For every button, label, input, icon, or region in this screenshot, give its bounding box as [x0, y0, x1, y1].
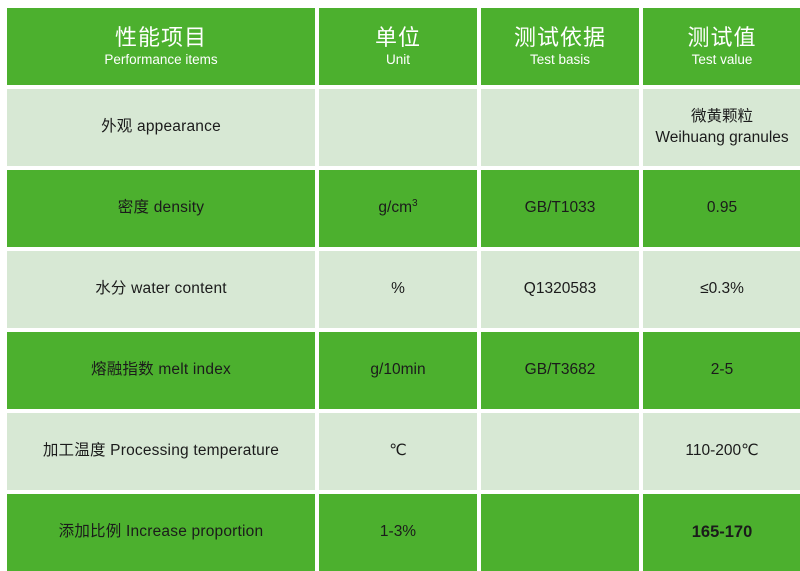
row-item-cell: 添加比例 Increase proportion	[7, 494, 315, 571]
column-header-cn: 测试值	[687, 25, 756, 50]
row-unit-cell: %	[319, 251, 477, 328]
row-basis-value: Q1320583	[524, 279, 596, 300]
column-header-test-basis: 测试依据 Test basis	[481, 8, 639, 85]
table-row: 熔融指数 melt index g/10min GB/T3682 2-5	[7, 332, 793, 409]
row-item-label: 外观 appearance	[101, 117, 221, 138]
row-item-cell: 密度 density	[7, 170, 315, 247]
row-item-label: 加工温度 Processing temperature	[43, 441, 279, 462]
specification-table: 性能项目 Performance items 单位 Unit 测试依据 Test…	[7, 8, 793, 542]
row-value-cell: 微黄颗粒 Weihuang granules	[643, 89, 800, 166]
row-value-cell: 165-170	[643, 494, 800, 571]
row-value-text: 0.95	[707, 198, 737, 219]
row-value-text: ≤0.3%	[700, 279, 744, 300]
column-header-cn: 性能项目	[115, 25, 207, 50]
row-item-cell: 水分 water content	[7, 251, 315, 328]
table-row: 外观 appearance 微黄颗粒 Weihuang granules	[7, 89, 793, 166]
row-basis-value: GB/T1033	[525, 198, 596, 219]
row-value-text: 110-200℃	[685, 441, 758, 462]
row-value-text: 2-5	[711, 360, 733, 381]
row-unit-value: ℃	[389, 441, 406, 462]
column-header-en: Performance items	[104, 51, 217, 69]
row-basis-value: GB/T3682	[525, 360, 596, 381]
row-item-label: 添加比例 Increase proportion	[59, 522, 264, 543]
row-unit-cell: g/10min	[319, 332, 477, 409]
row-unit-value: 1-3%	[380, 522, 416, 543]
row-unit-value: %	[391, 279, 405, 300]
row-value-cell: 0.95	[643, 170, 800, 247]
row-basis-cell	[481, 494, 639, 571]
table-row: 水分 water content % Q1320583 ≤0.3%	[7, 251, 793, 328]
row-item-label: 水分 water content	[95, 279, 227, 300]
row-basis-cell	[481, 413, 639, 490]
row-value-cell: 110-200℃	[643, 413, 800, 490]
row-unit-cell: 1-3%	[319, 494, 477, 571]
row-item-label: 密度 density	[118, 198, 204, 219]
row-value-text: 165-170	[692, 521, 753, 543]
row-item-cell: 加工温度 Processing temperature	[7, 413, 315, 490]
row-item-label: 熔融指数 melt index	[91, 360, 231, 381]
row-unit-superscript: 3	[412, 198, 418, 209]
table-row: 加工温度 Processing temperature ℃ 110-200℃	[7, 413, 793, 490]
column-header-en: Unit	[386, 51, 410, 69]
row-value-line-2: Weihuang granules	[655, 128, 788, 149]
row-item-cell: 熔融指数 melt index	[7, 332, 315, 409]
column-header-test-value: 测试值 Test value	[643, 8, 800, 85]
row-unit-cell	[319, 89, 477, 166]
row-basis-cell	[481, 89, 639, 166]
column-header-cn: 测试依据	[514, 25, 606, 50]
row-value-cell: 2-5	[643, 332, 800, 409]
column-header-unit: 单位 Unit	[319, 8, 477, 85]
column-header-performance-items: 性能项目 Performance items	[7, 8, 315, 85]
table-header-row: 性能项目 Performance items 单位 Unit 测试依据 Test…	[7, 8, 793, 85]
table-row: 密度 density g/cm3 GB/T1033 0.95	[7, 170, 793, 247]
row-unit-cell: ℃	[319, 413, 477, 490]
table-row: 添加比例 Increase proportion 1-3% 165-170	[7, 494, 793, 571]
column-header-cn: 单位	[375, 25, 421, 50]
row-item-cell: 外观 appearance	[7, 89, 315, 166]
row-basis-cell: GB/T1033	[481, 170, 639, 247]
row-unit-cell: g/cm3	[319, 170, 477, 247]
row-unit-base: g/cm	[378, 200, 412, 217]
row-value-line-1: 微黄颗粒	[691, 107, 753, 128]
row-value-cell: ≤0.3%	[643, 251, 800, 328]
column-header-en: Test basis	[530, 51, 590, 69]
row-unit-value: g/cm3	[378, 197, 417, 219]
row-unit-value: g/10min	[370, 360, 425, 381]
row-basis-cell: GB/T3682	[481, 332, 639, 409]
row-basis-cell: Q1320583	[481, 251, 639, 328]
column-header-en: Test value	[692, 51, 753, 69]
